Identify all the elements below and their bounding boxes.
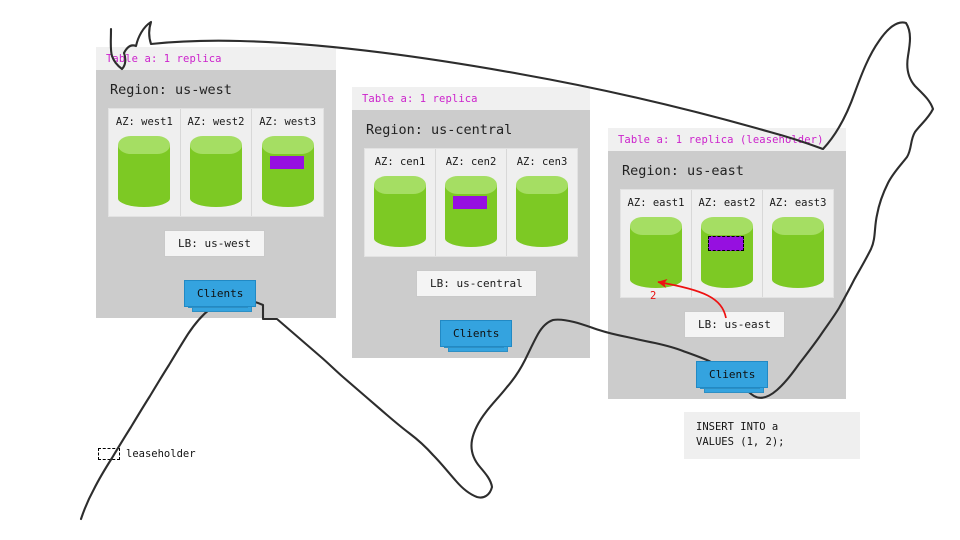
cylinder-body [118, 145, 170, 207]
node-cylinder-east1[interactable] [630, 217, 682, 289]
cylinder-body [445, 185, 497, 247]
az-label-west3: AZ: west3 [258, 116, 317, 128]
az-row-us-west: AZ: west1 AZ: west2 AZ: west3 [108, 108, 324, 217]
node-cylinder-east2[interactable] [701, 217, 753, 289]
clients-button-us-central[interactable]: Clients [440, 320, 512, 347]
cylinder-body [374, 185, 426, 247]
az-label-west2: AZ: west2 [187, 116, 246, 128]
cylinder-top [190, 136, 242, 154]
node-cylinder-cen1[interactable] [374, 176, 426, 248]
load-balancer-us-east[interactable]: LB: us-east [684, 311, 785, 338]
load-balancer-us-central[interactable]: LB: us-central [416, 270, 537, 297]
leaseholder-swatch-icon [98, 448, 120, 460]
cylinder-body [772, 226, 824, 288]
az-row-us-east: AZ: east1 AZ: east2 AZ: east3 [620, 189, 834, 298]
node-cylinder-cen3[interactable] [516, 176, 568, 248]
region-title-us-central: Region: us-central [366, 122, 578, 138]
az-cell-west3[interactable]: AZ: west3 [252, 109, 323, 216]
az-cell-cen1[interactable]: AZ: cen1 [365, 149, 436, 256]
legend-label: leaseholder [126, 448, 196, 460]
clients-button-us-west[interactable]: Clients [184, 280, 256, 307]
routing-step-number: 2 [650, 290, 656, 302]
node-cylinder-east3[interactable] [772, 217, 824, 289]
node-cylinder-west1[interactable] [118, 136, 170, 208]
cylinder-body [516, 185, 568, 247]
clients-button-face-us-east[interactable]: Clients [696, 361, 768, 388]
replica-marker-cen2 [453, 196, 487, 209]
region-title-us-east: Region: us-east [622, 163, 834, 179]
az-label-east2: AZ: east2 [698, 197, 756, 209]
az-label-east3: AZ: east3 [769, 197, 827, 209]
cylinder-top [630, 217, 682, 235]
az-label-east1: AZ: east1 [627, 197, 685, 209]
az-cell-east3[interactable]: AZ: east3 [763, 190, 833, 297]
replica-marker-leaseholder-east2 [708, 236, 744, 251]
cylinder-body [630, 226, 682, 288]
az-cell-east1[interactable]: AZ: east1 [621, 190, 692, 297]
az-cell-west1[interactable]: AZ: west1 [109, 109, 181, 216]
az-cell-cen3[interactable]: AZ: cen3 [507, 149, 577, 256]
az-row-us-central: AZ: cen1 AZ: cen2 AZ: cen3 [364, 148, 578, 257]
cylinder-body [262, 145, 314, 207]
az-cell-cen2[interactable]: AZ: cen2 [436, 149, 507, 256]
clients-button-us-east[interactable]: Clients [696, 361, 768, 388]
replica-marker-west3 [270, 156, 304, 169]
az-cell-west2[interactable]: AZ: west2 [181, 109, 253, 216]
panel-header-us-east: Table a: 1 replica (leaseholder) [608, 128, 846, 151]
az-label-west1: AZ: west1 [115, 116, 174, 128]
clients-button-face-us-central[interactable]: Clients [440, 320, 512, 347]
az-label-cen2: AZ: cen2 [442, 156, 500, 168]
region-panel-us-central: Table a: 1 replica Region: us-central AZ… [352, 87, 590, 358]
clients-button-face-us-west[interactable]: Clients [184, 280, 256, 307]
panel-header-us-west: Table a: 1 replica [96, 47, 336, 70]
node-cylinder-west3[interactable] [262, 136, 314, 208]
cylinder-top [118, 136, 170, 154]
az-label-cen1: AZ: cen1 [371, 156, 429, 168]
az-cell-east2[interactable]: AZ: east2 [692, 190, 763, 297]
cylinder-top [516, 176, 568, 194]
cylinder-body [190, 145, 242, 207]
topology-diagram: #map-layer[data-name="us-map-outline"], … [0, 0, 960, 540]
cylinder-top [374, 176, 426, 194]
node-cylinder-cen2[interactable] [445, 176, 497, 248]
sql-statement-box: INSERT INTO a VALUES (1, 2); [684, 412, 860, 459]
panel-header-us-central: Table a: 1 replica [352, 87, 590, 110]
cylinder-top [772, 217, 824, 235]
az-label-cen3: AZ: cen3 [513, 156, 571, 168]
region-panel-us-west: Table a: 1 replica Region: us-west AZ: w… [96, 47, 336, 318]
legend-leaseholder: leaseholder [98, 448, 196, 460]
cylinder-top [701, 217, 753, 235]
cylinder-top [262, 136, 314, 154]
region-panel-us-east: Table a: 1 replica (leaseholder) Region:… [608, 128, 846, 399]
load-balancer-us-west[interactable]: LB: us-west [164, 230, 265, 257]
node-cylinder-west2[interactable] [190, 136, 242, 208]
cylinder-top [445, 176, 497, 194]
region-title-us-west: Region: us-west [110, 82, 324, 98]
